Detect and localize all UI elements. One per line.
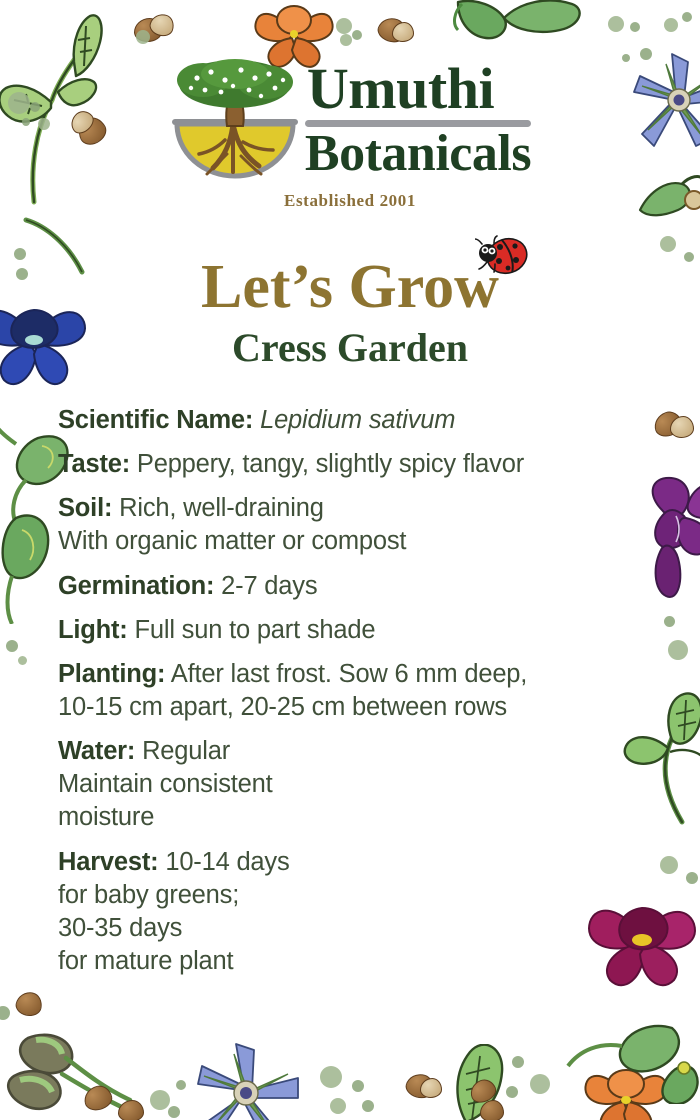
info-continuation: 10-15 cm apart, 20-25 cm between rows xyxy=(58,691,638,724)
sage-dot-illustration xyxy=(362,1100,374,1112)
brown-seed-illustration xyxy=(670,416,694,438)
brown-seed-illustration xyxy=(403,1071,437,1102)
brown-seed-illustration xyxy=(118,1100,144,1120)
brown-seed-illustration xyxy=(392,22,414,42)
info-label: Harvest: xyxy=(58,848,158,876)
info-value: Rich, well-draining xyxy=(119,494,324,522)
ladybug-icon xyxy=(475,234,529,280)
sage-dot-illustration xyxy=(330,1098,346,1114)
sage-dot-illustration xyxy=(320,1066,342,1088)
brown-seed-illustration xyxy=(375,14,410,46)
sage-dot-illustration xyxy=(0,1006,10,1020)
sage-dot-illustration xyxy=(630,22,640,32)
info-label: Planting: xyxy=(58,660,165,688)
info-row-taste: Taste: Peppery, tangy, slightly spicy fl… xyxy=(58,448,638,481)
sage-dot-illustration xyxy=(352,30,362,40)
sage-dot-illustration xyxy=(608,16,624,32)
info-continuation: for baby greens;30-35 daysfor mature pla… xyxy=(58,879,638,978)
info-row-soil: Soil: Rich, well-draining With organic m… xyxy=(58,492,638,558)
sage-dot-illustration xyxy=(660,856,678,874)
brown-seed-illustration xyxy=(480,1100,504,1120)
tree-with-roots-logo xyxy=(169,56,301,184)
sage-dot-illustration xyxy=(168,1106,180,1118)
info-row-harvest: Harvest: 10-14 days for baby greens;30-3… xyxy=(58,846,638,979)
sage-dot-illustration xyxy=(668,640,688,660)
info-label: Light: xyxy=(58,616,128,644)
brand-established: Established 2001 xyxy=(0,191,700,211)
info-row-germination: Germination: 2-7 days xyxy=(58,570,638,603)
sage-dot-illustration xyxy=(682,12,692,22)
sage-dot-illustration xyxy=(664,18,678,32)
info-row-scientific-name: Scientific Name: Lepidium sativum xyxy=(58,404,638,437)
sage-dot-illustration xyxy=(150,1090,170,1110)
green-seed-pod-illustration xyxy=(556,1024,700,1104)
brown-seed-illustration xyxy=(82,1083,115,1113)
info-label: Water: xyxy=(58,737,135,765)
brand-name-line1: Umuthi xyxy=(305,62,531,115)
sage-dot-illustration xyxy=(336,18,352,34)
sage-dot-illustration xyxy=(352,1080,364,1092)
info-value: Regular xyxy=(142,737,230,765)
brand-logo-block: Umuthi Botanicals Established 2001 xyxy=(0,52,700,211)
sage-dot-illustration xyxy=(664,616,675,627)
info-value: Peppery, tangy, slightly spicy flavor xyxy=(137,450,524,478)
info-row-light: Light: Full sun to part shade xyxy=(58,614,638,647)
info-value: 2-7 days xyxy=(221,572,317,600)
info-value: Lepidium sativum xyxy=(260,406,455,434)
brown-seed-illustration xyxy=(147,11,177,39)
variety-name: Cress Garden xyxy=(0,328,700,368)
brown-seed-illustration xyxy=(14,990,44,1019)
page-title: Let’s Grow xyxy=(201,256,499,318)
info-label: Taste: xyxy=(58,450,130,478)
blue-borage-flower-illustration xyxy=(192,1040,310,1120)
plant-info-list: Scientific Name: Lepidium sativum Taste:… xyxy=(58,404,638,989)
sage-dot-illustration xyxy=(176,1080,186,1090)
cotyledon-sprout-illustration xyxy=(4,1028,134,1120)
info-value: After last frost. Sow 6 mm deep, xyxy=(171,660,527,688)
seed-packet: Umuthi Botanicals Established 2001 Let’s… xyxy=(0,0,700,1120)
sage-dot-illustration xyxy=(136,30,150,44)
info-continuation: Maintain consistentmoisture xyxy=(58,768,638,834)
brand-name-line2: Botanicals xyxy=(305,129,531,179)
info-label: Germination: xyxy=(58,572,214,600)
sage-dot-illustration xyxy=(530,1074,550,1094)
headline-block: Let’s Grow xyxy=(0,256,700,368)
info-value: Full sun to part shade xyxy=(135,616,376,644)
sage-dot-illustration xyxy=(686,872,698,884)
sage-dot-illustration xyxy=(340,34,352,46)
brown-seed-illustration xyxy=(467,1076,499,1106)
brown-seed-illustration xyxy=(134,18,162,42)
orange-pansy-flower-illustration xyxy=(578,1056,674,1120)
sage-dot-illustration xyxy=(18,656,27,665)
info-label: Scientific Name: xyxy=(58,406,253,434)
page-title-text: Let’s Grow xyxy=(201,253,499,321)
purple-violet-flower-illustration xyxy=(632,470,700,600)
info-value: 10-14 days xyxy=(165,848,289,876)
brown-seed-illustration xyxy=(651,408,685,439)
info-row-water: Water: Regular Maintain consistentmoistu… xyxy=(58,735,638,834)
info-continuation: With organic matter or compost xyxy=(58,525,638,558)
brown-seed-illustration xyxy=(420,1078,442,1098)
sage-dot-illustration xyxy=(512,1056,524,1068)
sage-dot-illustration xyxy=(6,640,18,652)
green-leaf-illustration xyxy=(436,1044,510,1120)
green-seed-pod-illustration xyxy=(452,0,588,58)
info-row-planting: Planting: After last frost. Sow 6 mm dee… xyxy=(58,658,638,724)
info-label: Soil: xyxy=(58,494,112,522)
sage-dot-illustration xyxy=(506,1086,518,1098)
sage-dot-illustration xyxy=(660,236,676,252)
